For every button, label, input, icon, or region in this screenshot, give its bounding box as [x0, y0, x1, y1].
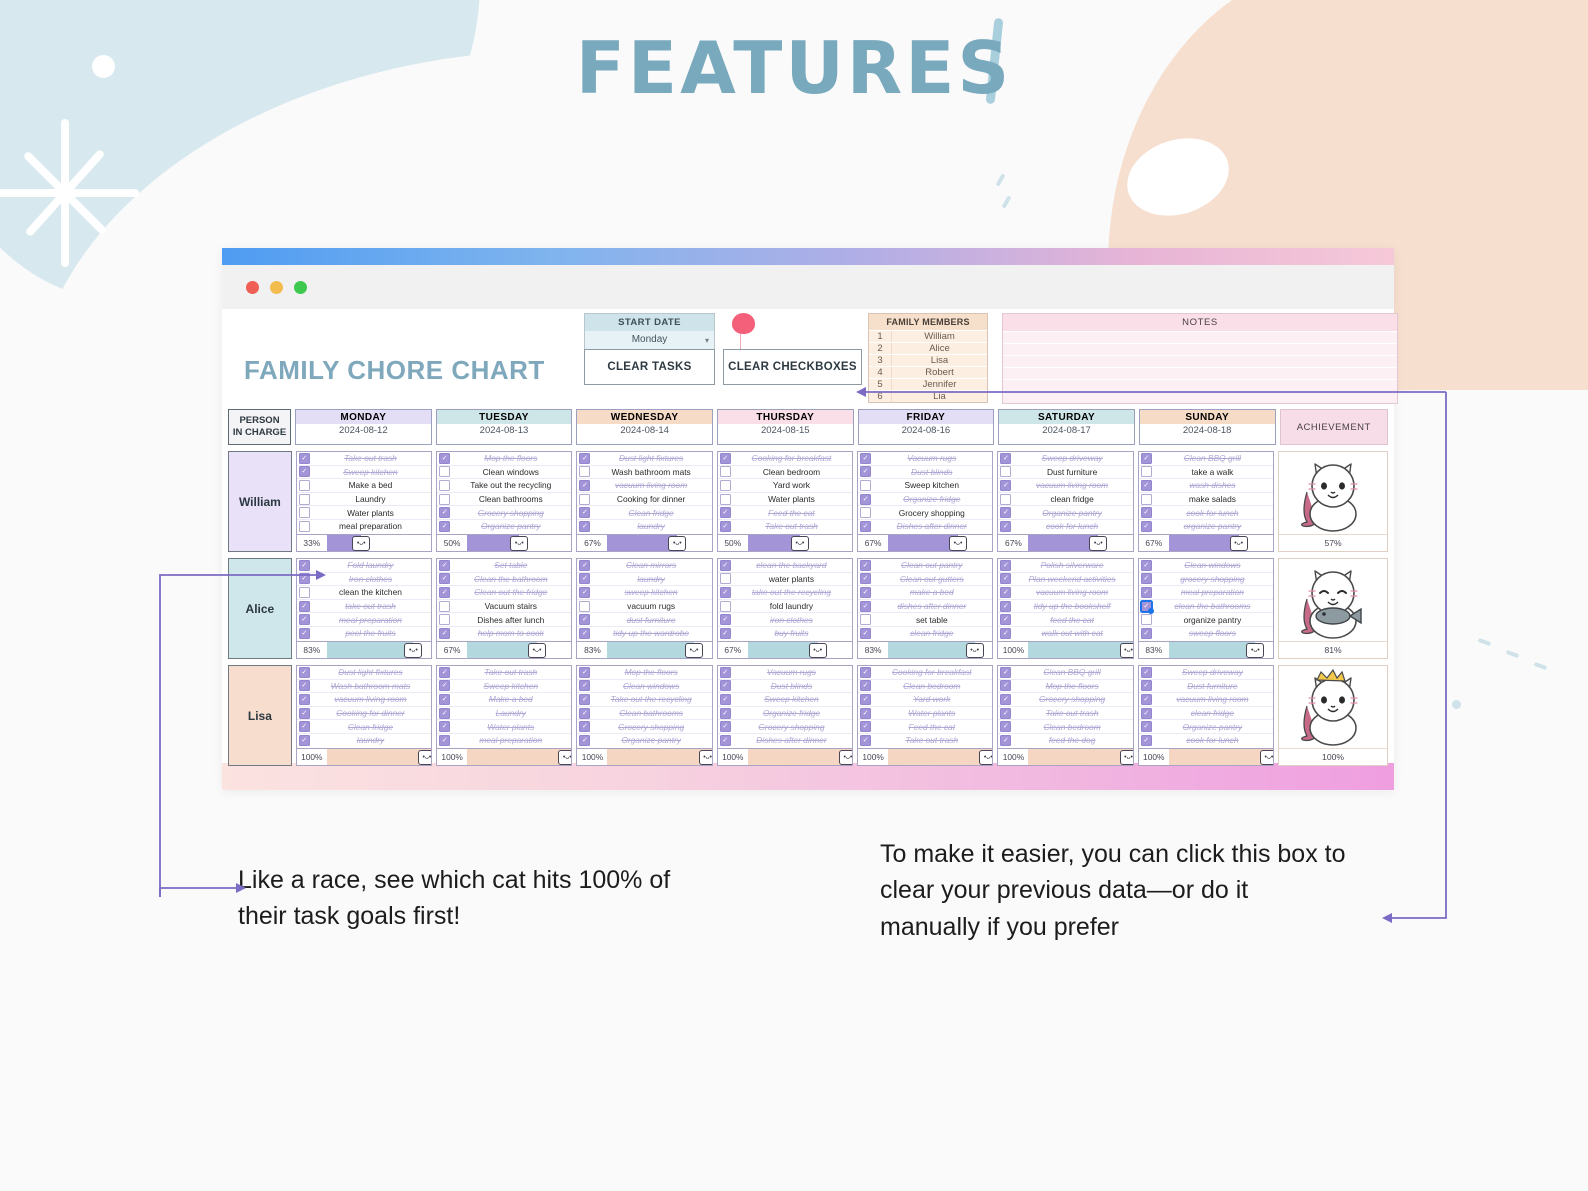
task-item[interactable]: ✓take out the recycling	[718, 586, 852, 600]
checkbox-icon[interactable]: ✓	[1000, 680, 1011, 691]
checkbox-icon[interactable]: ✓	[439, 680, 450, 691]
task-item[interactable]: ✓laundry	[297, 734, 431, 747]
task-item[interactable]: Clean bedroom	[718, 466, 852, 480]
task-item[interactable]: ✓Take out trash	[437, 666, 571, 680]
family-member-row[interactable]: 1William	[869, 330, 987, 342]
task-item[interactable]: ✓clean the backyard	[718, 559, 852, 573]
progress-track: •ᴗ•	[1169, 535, 1273, 551]
notes-line[interactable]	[1003, 355, 1397, 367]
task-item[interactable]: ✓Organize fridge	[858, 493, 992, 507]
checkbox-icon[interactable]: ✓	[720, 680, 731, 691]
checkbox-icon[interactable]: ✓	[439, 507, 450, 518]
task-item[interactable]: Vacuum stairs	[437, 600, 571, 614]
checkbox-icon[interactable]: ✓	[299, 614, 310, 625]
task-item[interactable]: ✓Dishes after dinner	[858, 520, 992, 533]
checkbox-icon[interactable]: ✓	[860, 601, 871, 612]
task-item[interactable]: ✓Organize pantry	[437, 520, 571, 533]
checkbox-icon[interactable]	[860, 614, 871, 625]
checkbox-icon[interactable]	[579, 466, 590, 477]
family-member-row[interactable]: 2Alice	[869, 342, 987, 354]
checkbox-icon[interactable]: ✓	[439, 667, 450, 678]
task-item[interactable]: ✓Polish silverware	[998, 559, 1132, 573]
progress-percent: 67%	[437, 645, 467, 655]
task-item[interactable]: ✓Mop the floors	[437, 452, 571, 466]
checkbox-icon[interactable]: ✓	[1000, 708, 1011, 719]
notes-line[interactable]	[1003, 331, 1397, 343]
checkbox-icon[interactable]: ✓	[720, 721, 731, 732]
task-item[interactable]: ✓Take out trash	[998, 707, 1132, 721]
close-icon[interactable]	[246, 281, 259, 294]
checkbox-icon[interactable]	[1141, 614, 1152, 625]
checkbox-icon[interactable]	[299, 507, 310, 518]
checkbox-icon[interactable]: ✓	[1141, 587, 1152, 598]
checkbox-icon[interactable]: ✓	[579, 507, 590, 518]
task-item[interactable]: ✓Dishes after dinner	[718, 734, 852, 747]
family-member-row[interactable]: 3Lisa	[869, 354, 987, 366]
checkbox-icon[interactable]: ✓	[579, 721, 590, 732]
progress-fill	[1169, 535, 1239, 551]
task-item[interactable]: ✓Grocery shopping	[437, 506, 571, 520]
checkbox-icon[interactable]: ✓	[299, 453, 310, 464]
checkbox-icon[interactable]: ✓	[1141, 601, 1152, 612]
task-item[interactable]: ✓Clean bathrooms	[577, 707, 711, 721]
task-item[interactable]: ✓Make a bed	[437, 693, 571, 707]
task-item[interactable]: Grocery shopping	[858, 506, 992, 520]
task-item[interactable]: ✓buy fruits	[718, 627, 852, 640]
task-item[interactable]: ✓Water plants	[437, 720, 571, 734]
task-item[interactable]: ✓Sweep driveway	[998, 452, 1132, 466]
task-item[interactable]: ✓Vacuum rugs	[858, 452, 992, 466]
checkbox-icon[interactable]: ✓	[860, 587, 871, 598]
checkbox-icon[interactable]	[439, 601, 450, 612]
task-item[interactable]: ✓Water plants	[858, 707, 992, 721]
checkbox-icon[interactable]	[1000, 466, 1011, 477]
task-item[interactable]: water plants	[718, 573, 852, 587]
checkbox-icon[interactable]: ✓	[579, 708, 590, 719]
day-cell: ✓Set table✓Clean the bathroom✓Clean out …	[436, 558, 572, 659]
checkbox-icon[interactable]: ✓	[439, 628, 450, 639]
task-item[interactable]: ✓Take out trash	[718, 520, 852, 533]
checkbox-icon[interactable]	[1141, 494, 1152, 505]
task-item[interactable]: set table	[858, 613, 992, 627]
checkbox-icon[interactable]: ✓	[720, 708, 731, 719]
checkbox-icon[interactable]: ✓	[1000, 614, 1011, 625]
checkbox-icon[interactable]: ✓	[860, 560, 871, 571]
task-item[interactable]: ✓clean fridge	[858, 627, 992, 640]
checkbox-icon[interactable]: ✓	[720, 587, 731, 598]
checkbox-icon[interactable]	[579, 494, 590, 505]
task-item[interactable]: ✓cook for lunch	[1139, 734, 1273, 747]
checkbox-icon[interactable]: ✓	[1000, 735, 1011, 746]
task-item[interactable]: ✓Grocery shopping	[998, 693, 1132, 707]
task-item[interactable]: ✓Feed the cat	[858, 720, 992, 734]
task-item[interactable]: ✓Organize pantry	[1139, 720, 1273, 734]
checkbox-icon[interactable]: ✓	[1000, 694, 1011, 705]
task-label: Water plants	[874, 708, 992, 718]
task-item[interactable]: ✓Feed the cat	[718, 506, 852, 520]
task-item[interactable]: ✓Clean bedroom	[858, 680, 992, 694]
task-item[interactable]: ✓meal preparation	[437, 734, 571, 747]
checkbox-icon[interactable]: ✓	[1141, 560, 1152, 571]
checkbox-icon[interactable]: ✓	[579, 628, 590, 639]
task-item[interactable]: ✓Clean windows	[1139, 559, 1273, 573]
checkbox-icon[interactable]: ✓	[720, 521, 731, 532]
checkbox-icon[interactable]: ✓	[1141, 694, 1152, 705]
checkbox-icon[interactable]: ✓	[1141, 453, 1152, 464]
task-item[interactable]: ✓grocery shopping	[1139, 573, 1273, 587]
person-cell-william[interactable]: William	[228, 451, 292, 552]
checkbox-icon[interactable]: ✓	[579, 694, 590, 705]
day-cell: ✓Clean out pantry✓Clean out gutters✓make…	[857, 558, 993, 659]
task-item[interactable]: Water plants	[718, 493, 852, 507]
checkbox-icon[interactable]	[299, 494, 310, 505]
checkbox-icon[interactable]: ✓	[1141, 667, 1152, 678]
task-item[interactable]: ✓Dust blinds	[718, 680, 852, 694]
checkbox-icon[interactable]: ✓	[860, 708, 871, 719]
task-item[interactable]: take a walk	[1139, 466, 1273, 480]
checkbox-icon[interactable]: ✓	[720, 735, 731, 746]
task-item[interactable]: Laundry	[297, 493, 431, 507]
task-list: ✓Take out trash✓Sweep kitchenMake a bedL…	[296, 451, 432, 534]
notes-line[interactable]	[1003, 391, 1397, 403]
task-item[interactable]: ✓Dust light fixtures	[297, 666, 431, 680]
checkbox-icon[interactable]: ✓	[720, 628, 731, 639]
checkbox-icon[interactable]: ✓	[439, 694, 450, 705]
checkbox-icon[interactable]: ✓	[579, 614, 590, 625]
checkbox-icon[interactable]: ✓	[439, 573, 450, 584]
task-item[interactable]: ✓cook for lunch	[1139, 506, 1273, 520]
task-item[interactable]: ✓organize pantry	[1139, 520, 1273, 533]
task-item[interactable]: ✓Grocery shopping	[577, 720, 711, 734]
task-item[interactable]: ✓Grocery shopping	[718, 720, 852, 734]
task-item[interactable]: ✓meal preparation	[297, 613, 431, 627]
checkbox-icon[interactable]: ✓	[1000, 573, 1011, 584]
task-item[interactable]: ✓Clean out gutters	[858, 573, 992, 587]
checkbox-icon[interactable]	[439, 614, 450, 625]
cat-marker-icon: •ᴗ•	[699, 750, 712, 765]
task-item[interactable]: fold laundry	[718, 600, 852, 614]
task-item[interactable]: ✓Plan weekend activities	[998, 573, 1132, 587]
checkbox-icon[interactable]	[579, 601, 590, 612]
checkbox-icon[interactable]: ✓	[860, 680, 871, 691]
task-item[interactable]: ✓vacuum living room	[998, 479, 1132, 493]
task-item[interactable]: ✓Dust blinds	[858, 466, 992, 480]
checkbox-icon[interactable]: ✓	[1141, 721, 1152, 732]
task-item[interactable]: ✓Organize fridge	[718, 707, 852, 721]
task-item[interactable]: ✓Yard work	[858, 693, 992, 707]
task-item[interactable]: ✓Take out the recycling	[577, 693, 711, 707]
checkbox-icon[interactable]: ✓	[579, 521, 590, 532]
clear-checkboxes-button[interactable]: CLEAR CHECKBOXES	[723, 349, 862, 385]
notes-line[interactable]	[1003, 367, 1397, 379]
task-item[interactable]: ✓Fold laundry	[297, 559, 431, 573]
checkbox-icon[interactable]: ✓	[439, 521, 450, 532]
progress-percent: 67%	[858, 538, 888, 548]
checkbox-icon[interactable]: ✓	[439, 721, 450, 732]
task-item[interactable]: organize pantry	[1139, 613, 1273, 627]
cat-marker-icon: •ᴗ•	[1246, 643, 1264, 658]
task-item[interactable]: ✓clean fridge	[1139, 707, 1273, 721]
task-item[interactable]: Clean windows	[437, 466, 571, 480]
task-label: Organize fridge	[874, 494, 992, 504]
checkbox-icon[interactable]: ✓	[860, 667, 871, 678]
checkbox-icon[interactable]: ✓	[579, 573, 590, 584]
task-item[interactable]: Take out the recycling	[437, 479, 571, 493]
checkbox-icon[interactable]: ✓	[579, 667, 590, 678]
checkbox-icon[interactable]: ✓	[299, 680, 310, 691]
checkbox-icon[interactable]: ✓	[579, 587, 590, 598]
task-item[interactable]: ✓vacuum living room	[577, 479, 711, 493]
progress-bar: 67%•ᴗ•	[576, 534, 712, 552]
task-item[interactable]: ✓dust furniture	[577, 613, 711, 627]
checkbox-icon[interactable]: ✓	[860, 521, 871, 532]
person-cell-lisa[interactable]: Lisa	[228, 665, 292, 766]
task-item[interactable]: Yard work	[718, 479, 852, 493]
task-item[interactable]: ✓Dust light fixtures	[577, 452, 711, 466]
task-item[interactable]: ✓Sweep kitchen	[297, 466, 431, 480]
checkbox-icon[interactable]: ✓	[1000, 521, 1011, 532]
task-item[interactable]: Clean bathrooms	[437, 493, 571, 507]
task-item[interactable]: ✓dishes after dinner	[858, 600, 992, 614]
task-item[interactable]: Sweep kitchen	[858, 479, 992, 493]
column-header-person: PERSONIN CHARGE	[228, 409, 291, 445]
task-item[interactable]: ✓wash dishes	[1139, 479, 1273, 493]
checkbox-icon[interactable]	[720, 466, 731, 477]
checkbox-icon[interactable]: ✓	[860, 573, 871, 584]
checkbox-icon[interactable]: ✓	[299, 601, 310, 612]
task-item[interactable]: ✓feed the cat	[998, 613, 1132, 627]
task-label: take out the recycling	[734, 587, 852, 597]
checkbox-icon[interactable]	[720, 494, 731, 505]
checkbox-icon[interactable]	[860, 480, 871, 491]
checkbox-icon[interactable]: ✓	[1141, 680, 1152, 691]
checkbox-icon[interactable]: ✓	[299, 466, 310, 477]
task-item[interactable]: ✓Wash bathroom mats	[297, 680, 431, 694]
task-item[interactable]: ✓Clean BBQ grill	[998, 666, 1132, 680]
checkbox-icon[interactable]: ✓	[860, 628, 871, 639]
notes-line[interactable]	[1003, 343, 1397, 355]
task-item[interactable]: ✓Cooking for dinner	[297, 707, 431, 721]
task-item[interactable]: vacuum rugs	[577, 600, 711, 614]
task-item[interactable]: ✓Mop the floors	[998, 680, 1132, 694]
task-item[interactable]: ✓Cooking for breakfast	[858, 666, 992, 680]
task-item[interactable]: ✓Take out trash	[297, 452, 431, 466]
task-item[interactable]: ✓help mom to cook	[437, 627, 571, 640]
task-label: organize pantry	[1155, 615, 1273, 625]
task-item[interactable]: ✓Organize pantry	[577, 734, 711, 747]
checkbox-icon[interactable]: ✓	[1141, 521, 1152, 532]
task-item[interactable]: Make a bed	[297, 479, 431, 493]
task-item[interactable]: ✓Clean windows	[577, 680, 711, 694]
progress-track: •ᴗ•	[607, 642, 711, 658]
checkbox-icon[interactable]: ✓	[439, 453, 450, 464]
checkbox-icon[interactable]: ✓	[1000, 601, 1011, 612]
checkbox-icon[interactable]: ✓	[1000, 480, 1011, 491]
checkbox-icon[interactable]: ✓	[579, 735, 590, 746]
checkbox-icon[interactable]: ✓	[299, 708, 310, 719]
task-item[interactable]: ✓make a bed	[858, 586, 992, 600]
task-item[interactable]: Cooking for dinner	[577, 493, 711, 507]
task-item[interactable]: ✓peel the fruits	[297, 627, 431, 640]
checkbox-icon[interactable]: ✓	[1141, 735, 1152, 746]
checkbox-icon[interactable]	[439, 466, 450, 477]
task-item[interactable]: ✓Laundry	[437, 707, 571, 721]
task-item[interactable]: ✓laundry	[577, 573, 711, 587]
task-item[interactable]: ✓Clean fridge	[297, 720, 431, 734]
task-item[interactable]: ✓Organize pantry	[998, 506, 1132, 520]
task-item[interactable]: ✓Dust furniture	[1139, 680, 1273, 694]
task-item[interactable]: ✓Clean out the fridge	[437, 586, 571, 600]
progress-percent: 50%	[437, 538, 467, 548]
checkbox-icon[interactable]: ✓	[1000, 667, 1011, 678]
column-header-monday: MONDAY2024-08-12	[295, 409, 432, 445]
checkbox-icon[interactable]: ✓	[1000, 453, 1011, 464]
checkbox-icon[interactable]: ✓	[299, 628, 310, 639]
checkbox-icon[interactable]: ✓	[299, 694, 310, 705]
task-item[interactable]: ✓Clean out pantry	[858, 559, 992, 573]
task-item[interactable]: Dishes after lunch	[437, 613, 571, 627]
family-members-panel: FAMILY MEMBERS 1William2Alice3Lisa4Rober…	[868, 313, 988, 403]
checkbox-icon[interactable]: ✓	[720, 560, 731, 571]
task-item[interactable]: ✓Clean the bathroom	[437, 573, 571, 587]
task-item[interactable]: ✓Clean mirrors	[577, 559, 711, 573]
checkbox-icon[interactable]	[299, 521, 310, 532]
progress-track: •ᴗ•	[748, 642, 852, 658]
task-item[interactable]: ✓Clean bedroom	[998, 720, 1132, 734]
task-item[interactable]: ✓Sweep driveway	[1139, 666, 1273, 680]
family-member-row[interactable]: 4Robert	[869, 366, 987, 378]
minimize-icon[interactable]	[270, 281, 283, 294]
maximize-icon[interactable]	[294, 281, 307, 294]
task-item[interactable]: ✓Iron clothes	[297, 573, 431, 587]
checkbox-icon[interactable]: ✓	[720, 507, 731, 518]
notes-line[interactable]	[1003, 379, 1397, 391]
task-item[interactable]: ✓laundry	[577, 520, 711, 533]
day-cell: ✓Vacuum rugs✓Dust blindsSweep kitchen✓Or…	[857, 451, 993, 552]
checkbox-icon[interactable]: ✓	[1000, 587, 1011, 598]
task-label: Take out the recycling	[593, 694, 711, 704]
checkbox-icon[interactable]: ✓	[1000, 721, 1011, 732]
checkbox-icon[interactable]: ✓	[299, 573, 310, 584]
clear-tasks-button[interactable]: CLEAR TASKS	[584, 349, 715, 385]
checkbox-icon[interactable]: ✓	[1000, 507, 1011, 518]
task-label: Take out trash	[1014, 708, 1132, 718]
checkbox-icon[interactable]: ✓	[1000, 628, 1011, 639]
task-item[interactable]: ✓cook for lunch	[998, 520, 1132, 533]
task-item[interactable]: ✓Mop the floors	[577, 666, 711, 680]
task-item[interactable]: ✓vacuum living room	[998, 586, 1132, 600]
checkbox-icon[interactable]: ✓	[860, 735, 871, 746]
checkbox-icon[interactable]: ✓	[1141, 480, 1152, 491]
task-item[interactable]: clean fridge	[998, 493, 1132, 507]
checkbox-icon[interactable]: ✓	[860, 453, 871, 464]
task-item[interactable]: Wash bathroom mats	[577, 466, 711, 480]
task-item[interactable]: ✓Sweep kitchen	[718, 693, 852, 707]
checkbox-icon[interactable]	[299, 587, 310, 598]
task-item[interactable]: ✓sweep floors	[1139, 627, 1273, 640]
task-item[interactable]: ✓meal preparation	[1139, 586, 1273, 600]
checkbox-icon[interactable]	[299, 480, 310, 491]
checkbox-icon[interactable]	[720, 601, 731, 612]
task-item[interactable]: ✓tidy up the wardrobe	[577, 627, 711, 640]
checkbox-icon[interactable]: ✓	[579, 453, 590, 464]
task-item[interactable]: clean the kitchen	[297, 586, 431, 600]
day-cell: ✓Mop the floorsClean windowsTake out the…	[436, 451, 572, 552]
person-cell-alice[interactable]: Alice	[228, 558, 292, 659]
checkbox-icon[interactable]: ✓	[299, 735, 310, 746]
checkbox-icon[interactable]: ✓	[720, 667, 731, 678]
task-item[interactable]: meal preparation	[297, 520, 431, 533]
family-member-row[interactable]: 5Jennifer	[869, 378, 987, 390]
checkbox-icon[interactable]	[1141, 466, 1152, 477]
checkbox-icon[interactable]: ✓	[299, 721, 310, 732]
checkbox-icon[interactable]: ✓	[1141, 628, 1152, 639]
checkbox-icon[interactable]: ✓	[1000, 560, 1011, 571]
checkbox-icon[interactable]: ✓	[439, 560, 450, 571]
checkbox-icon[interactable]: ✓	[860, 494, 871, 505]
task-item[interactable]: make salads	[1139, 493, 1273, 507]
task-item[interactable]: ✓feed the dog	[998, 734, 1132, 747]
task-item[interactable]: ✓take out trash	[297, 600, 431, 614]
checkbox-icon[interactable]: ✓	[860, 466, 871, 477]
task-item[interactable]: ✓Clean fridge	[577, 506, 711, 520]
task-item[interactable]: ✓Set table	[437, 559, 571, 573]
checkbox-icon[interactable]	[1000, 494, 1011, 505]
task-label: vacuum living room	[1155, 694, 1273, 704]
chevron-down-icon[interactable]: ▾	[705, 336, 709, 347]
notes-panel[interactable]: NOTES	[1002, 313, 1398, 404]
checkbox-icon[interactable]: ✓	[1141, 573, 1152, 584]
task-item[interactable]: ✓sweep kitchen	[577, 586, 711, 600]
task-item[interactable]: ✓walk out with cat	[998, 627, 1132, 640]
task-item[interactable]: ✓Clean BBQ grill	[1139, 452, 1273, 466]
checkbox-icon[interactable]: ✓	[299, 560, 310, 571]
checkbox-icon[interactable]: ✓	[579, 560, 590, 571]
checkbox-icon[interactable]	[720, 573, 731, 584]
task-item[interactable]: ✓vacuum living room	[297, 693, 431, 707]
checkbox-icon[interactable]: ✓	[439, 708, 450, 719]
task-item[interactable]: Dust furniture	[998, 466, 1132, 480]
checkbox-icon[interactable]: ✓	[860, 694, 871, 705]
task-item[interactable]: ✓Take out trash	[858, 734, 992, 747]
task-item[interactable]: ✓Cooking for breakfast	[718, 452, 852, 466]
checkbox-icon[interactable]: ✓	[579, 480, 590, 491]
checkbox-icon[interactable]: ✓	[439, 587, 450, 598]
checkbox-icon[interactable]: ✓	[439, 735, 450, 746]
checkbox-icon[interactable]	[720, 480, 731, 491]
checkbox-icon[interactable]: ✓	[299, 667, 310, 678]
checkbox-icon[interactable]: ✓	[720, 614, 731, 625]
checkbox-icon[interactable]	[439, 494, 450, 505]
task-item[interactable]: ✓clean the bathrooms	[1139, 600, 1273, 614]
task-item[interactable]: ✓tidy up the bookshelf	[998, 600, 1132, 614]
checkbox-icon[interactable]: ✓	[860, 721, 871, 732]
task-item[interactable]: ✓Vacuum rugs	[718, 666, 852, 680]
task-item[interactable]: ✓vacuum living room	[1139, 693, 1273, 707]
task-item[interactable]: Water plants	[297, 506, 431, 520]
task-item[interactable]: ✓Sweep kitchen	[437, 680, 571, 694]
checkbox-icon[interactable]: ✓	[1141, 507, 1152, 518]
checkbox-icon[interactable]: ✓	[579, 680, 590, 691]
checkbox-icon[interactable]	[860, 507, 871, 518]
family-member-row[interactable]: 6Lia	[869, 390, 987, 402]
progress-fill	[1028, 535, 1098, 551]
checkbox-icon[interactable]	[439, 480, 450, 491]
task-item[interactable]: ✓iron clothes	[718, 613, 852, 627]
checkbox-icon[interactable]: ✓	[1141, 708, 1152, 719]
checkbox-icon[interactable]: ✓	[720, 453, 731, 464]
checkbox-icon[interactable]: ✓	[720, 694, 731, 705]
